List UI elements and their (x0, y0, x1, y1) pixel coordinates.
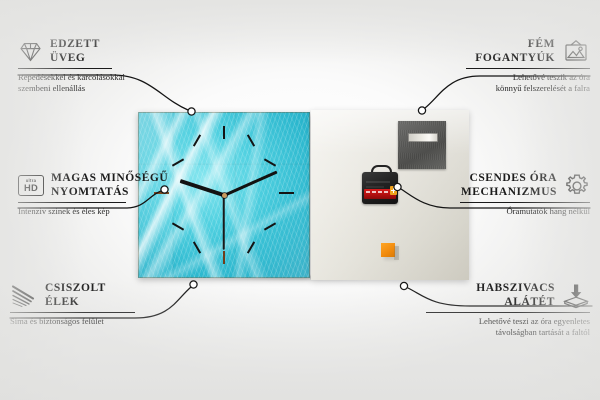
callout-header: FÉM FOGANTYÚK (430, 38, 590, 65)
callout-rule (18, 68, 112, 69)
callout-title: FÉM FOGANTYÚK (475, 38, 555, 65)
callout-metal-hangers: FÉM FOGANTYÚK Lehetővé teszik az óra kön… (430, 38, 590, 94)
gear-icon (564, 173, 590, 199)
callout-subtitle: Óramutatók hang nélkül (430, 206, 590, 217)
callout-silent-mechanism: CSENDES ÓRA MECHANIZMUS Óramutatók hang … (430, 172, 590, 217)
callout-subtitle: Repedésekkel és karcolásokkal szembeni e… (18, 72, 168, 94)
callout-header: CSISZOLT ÉLEK (10, 282, 160, 309)
callout-polished-edges: CSISZOLT ÉLEK Sima és biztonságos felüle… (10, 282, 160, 327)
clock-tick-12 (223, 126, 225, 139)
callout-title: MAGAS MINŐSÉGŰ NYOMTATÁS (51, 172, 168, 199)
callout-header: CSENDES ÓRA MECHANIZMUS (430, 172, 590, 199)
mechanism-ridge (366, 181, 390, 183)
metal-hanger-plate (398, 121, 446, 169)
hanger-slot (408, 133, 438, 142)
ultra-hd-icon: ultra HD (18, 175, 44, 196)
callout-title: CSENDES ÓRA MECHANIZMUS (461, 172, 557, 199)
callout-header: HABSZIVACS ALÁTÉT (422, 282, 590, 309)
callout-subtitle: Sima és biztonságos felület (10, 316, 160, 327)
callout-foam-spacer: HABSZIVACS ALÁTÉT Lehetővé teszi az óra … (422, 282, 590, 338)
callout-header: EDZETT ÜVEG (18, 38, 168, 65)
foam-pad-press-icon (562, 283, 590, 309)
callout-high-quality-print: ultra HD MAGAS MINŐSÉGŰ NYOMTATÁS Intenz… (18, 172, 178, 217)
callout-title: EDZETT ÜVEG (50, 38, 100, 65)
callout-tempered-glass: EDZETT ÜVEG Repedésekkel és karcolásokka… (18, 38, 168, 94)
clock-center-cap (222, 193, 227, 198)
clock-tick-6 (223, 251, 225, 264)
callout-rule (18, 202, 126, 203)
callout-header: ultra HD MAGAS MINŐSÉGŰ NYOMTATÁS (18, 172, 178, 199)
clock-second-hand (223, 195, 225, 250)
quartz-clock-mechanism (361, 165, 399, 207)
callout-rule (460, 202, 590, 203)
callout-subtitle: Lehetővé teszik az óra könnyű felszerelé… (430, 72, 590, 94)
foam-pad-shadow (394, 246, 399, 260)
callout-rule (426, 312, 590, 313)
callout-title: CSISZOLT ÉLEK (45, 282, 106, 309)
callout-title: HABSZIVACS ALÁTÉT (476, 282, 555, 309)
callout-subtitle: Lehetővé teszi az óra egyenletes távolsá… (422, 316, 590, 338)
picture-frame-hanger-icon (562, 39, 590, 65)
callout-rule (466, 68, 590, 69)
aa-battery (364, 189, 396, 199)
callout-rule (10, 312, 135, 313)
ultra-hd-icon-main-label: HD (24, 183, 38, 193)
callout-subtitle: Intenzív színek és éles kép (18, 206, 178, 217)
diamond-icon (18, 40, 43, 64)
battery-plus-terminal (390, 186, 397, 195)
beveled-edges-icon (10, 284, 38, 308)
clock-tick-3 (279, 192, 294, 194)
foam-spacer-pad (381, 243, 395, 257)
mechanism-ridge-secondary (366, 186, 384, 188)
infographic-canvas: EDZETT ÜVEG Repedésekkel és karcolásokka… (0, 0, 600, 400)
